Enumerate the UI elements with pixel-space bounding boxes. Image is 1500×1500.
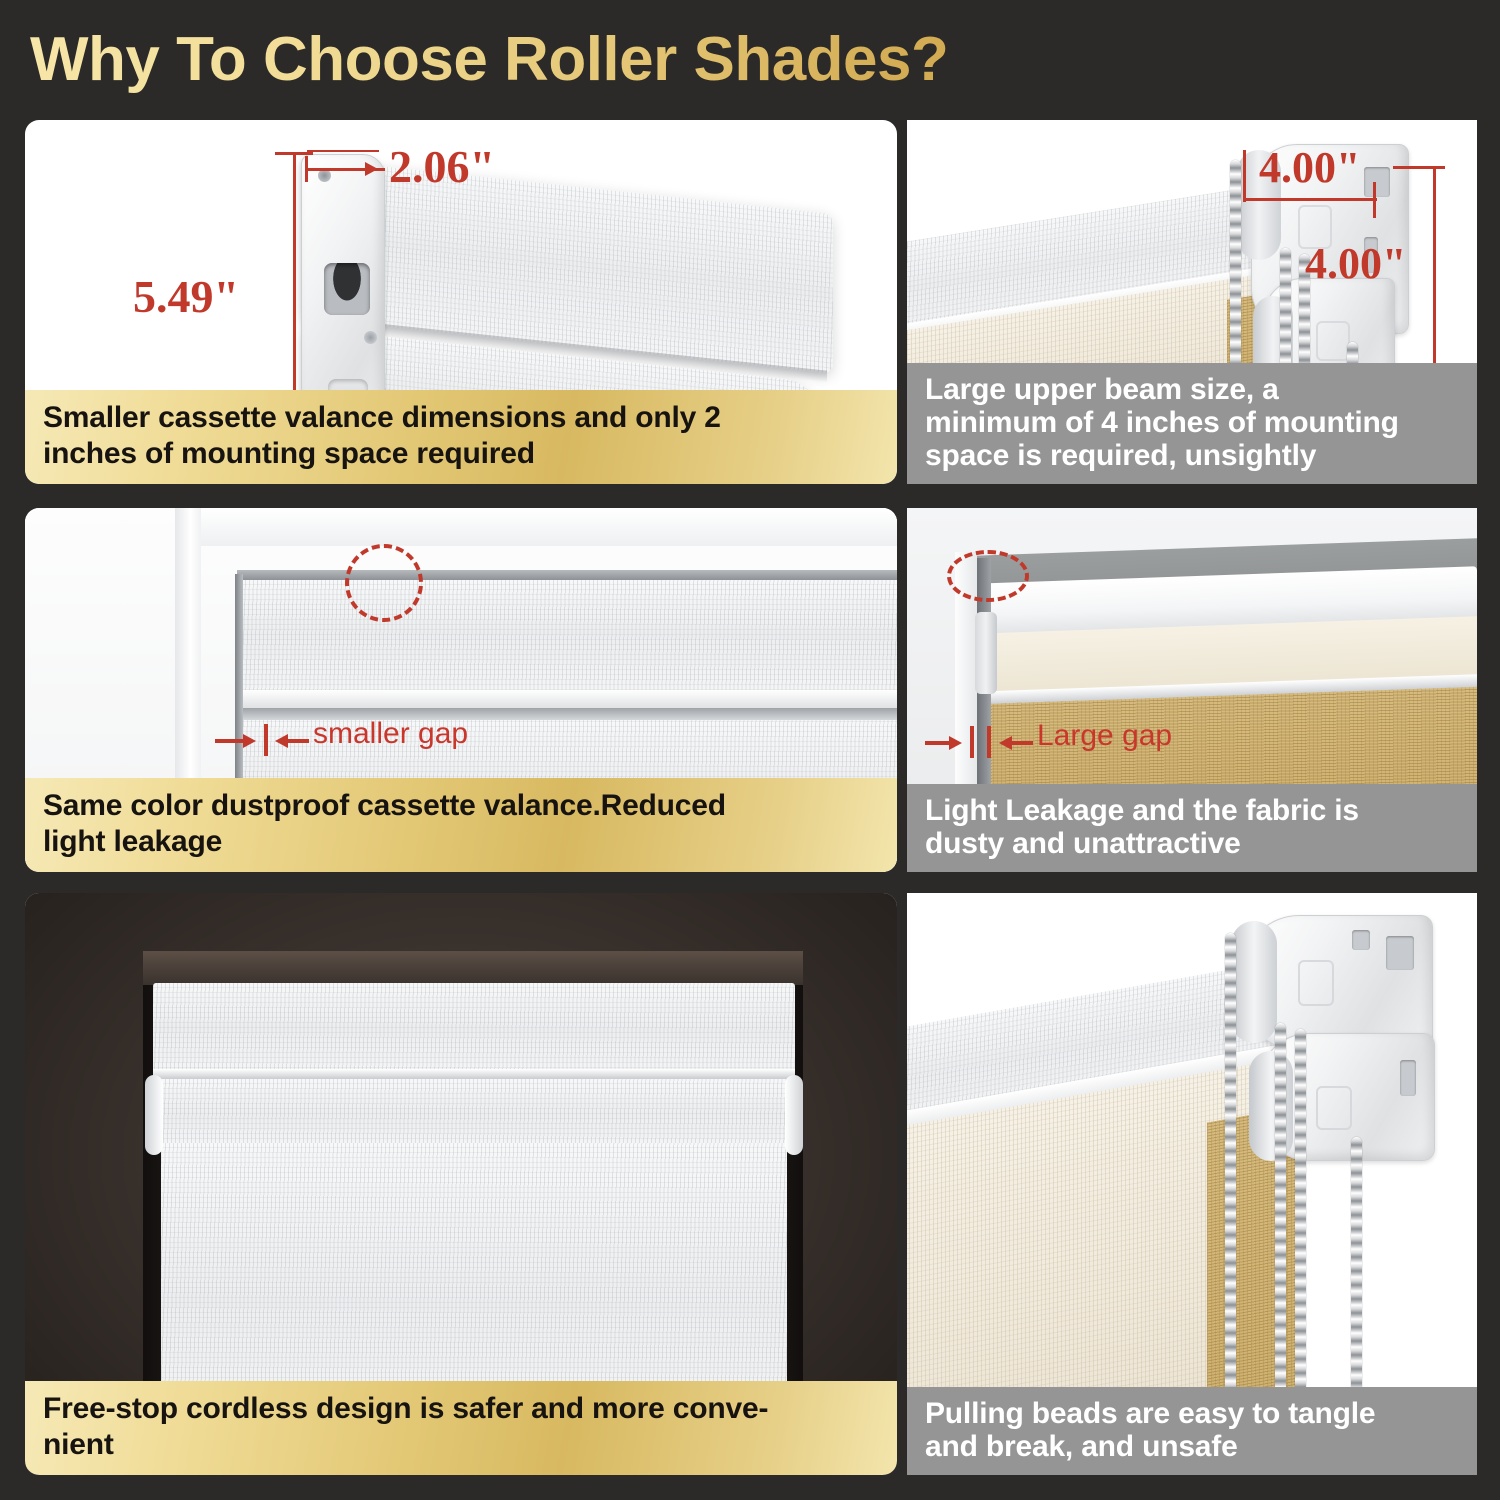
- window-header: [143, 951, 803, 985]
- panel-4-caption: Light Leakage and the fabric is dusty an…: [907, 784, 1477, 872]
- roller-tube: [157, 1079, 791, 1149]
- caption-line: light leakage: [43, 824, 879, 860]
- page-title: Why To Choose Roller Shades?: [30, 14, 1230, 106]
- panel-large-upper-beam: 4.00" 4.00" Large upper beam size, a min…: [907, 120, 1477, 484]
- caption-line: and break, and unsafe: [925, 1430, 1459, 1463]
- panel-large-gap: Large gap Light Leakage and the fabric i…: [907, 508, 1477, 872]
- width-dimension-label: 4.00": [1259, 142, 1360, 193]
- width-dimension-extension: [307, 150, 379, 152]
- cassette-valance-face: [237, 580, 897, 690]
- bracket-slot-top: [1386, 936, 1414, 970]
- panel-1-caption: Smaller cassette valance dimensions and …: [25, 390, 897, 484]
- end-cap-left: [145, 1075, 163, 1155]
- bracket-slot-small: [1352, 930, 1370, 950]
- bead-chain-1: [1230, 160, 1241, 390]
- width-dimension-tick-right: [1373, 182, 1376, 218]
- gap-marker-bar: [264, 724, 268, 756]
- panel-cordless-design: Free-stop cordless design is safer and m…: [25, 893, 897, 1475]
- panel-2-caption: Large upper beam size, a minimum of 4 in…: [907, 363, 1477, 484]
- bracket-slot-mid: [1400, 1060, 1416, 1096]
- panel-3-caption: Same color dustproof cassette valance.Re…: [25, 778, 897, 872]
- gap-arrow-stem-left: [215, 739, 245, 743]
- cassette-valance: [153, 983, 795, 1073]
- width-dimension-tick-left: [305, 156, 308, 182]
- caption-line: Free-stop cordless design is safer and m…: [43, 1391, 879, 1427]
- bracket-emboss-icon-2: [1316, 1086, 1352, 1130]
- panel-5-caption: Free-stop cordless design is safer and m…: [25, 1381, 897, 1475]
- height-dimension-tick-top: [1393, 166, 1445, 169]
- caption-line: dusty and unattractive: [925, 827, 1459, 860]
- end-cap-right: [785, 1075, 803, 1155]
- bracket-slot-top: [1364, 167, 1390, 197]
- panel-smaller-cassette: 2.06" 5.49" Smaller cassette valance dim…: [25, 120, 897, 484]
- gap-callout-label: smaller gap: [313, 717, 468, 751]
- width-dimension-line: [1245, 198, 1377, 201]
- height-dimension-label: 5.49": [133, 270, 239, 323]
- caption-line: Large upper beam size, a: [925, 373, 1459, 406]
- width-dimension-tick-left: [1243, 150, 1246, 202]
- height-dimension-tick-top: [275, 152, 313, 155]
- gap-arrow-stem-left: [925, 741, 951, 745]
- width-dimension-arrow: [365, 162, 378, 176]
- detail-highlight-circle: [345, 544, 423, 622]
- height-dimension-line: [1433, 168, 1436, 374]
- bracket-emboss-icon: [1298, 960, 1334, 1006]
- gap-arrow-left: [949, 736, 962, 750]
- clutch-wheel-top: [1231, 921, 1277, 1043]
- caption-line: nient: [43, 1427, 879, 1463]
- gap-marker-bar-1: [970, 726, 974, 758]
- gap-arrow-stem-right: [287, 739, 309, 743]
- width-dimension-label: 2.06": [389, 140, 495, 193]
- screw-head: [364, 331, 377, 344]
- detail-highlight-ellipse: [947, 550, 1029, 602]
- gap-callout-label: Large gap: [1037, 719, 1172, 753]
- caption-line: Pulling beads are easy to tangle: [925, 1397, 1459, 1430]
- caption-line: minimum of 4 inches of mounting: [925, 406, 1459, 439]
- panel-pulling-beads: Pulling beads are easy to tangle and bre…: [907, 893, 1477, 1475]
- caption-line: Light Leakage and the fabric is: [925, 794, 1459, 827]
- valance-lip: [153, 1069, 795, 1079]
- caption-line: space is required, unsightly: [925, 439, 1459, 472]
- gap-arrow-stem-right: [1011, 741, 1033, 745]
- mounting-bracket: [975, 612, 997, 694]
- cassette-head-shadow: [237, 570, 897, 580]
- height-dimension-label: 4.00": [1305, 238, 1406, 289]
- valance-bottom-lip: [237, 690, 897, 708]
- clutch-wheel-bottom: [1249, 1051, 1293, 1161]
- gap-arrow-left: [243, 734, 256, 748]
- caption-line: Same color dustproof cassette valance.Re…: [43, 788, 879, 824]
- caption-line: inches of mounting space required: [43, 436, 879, 472]
- bracket-emboss-icon-2: [1316, 321, 1350, 361]
- window-frame-top: [201, 508, 897, 546]
- caption-line: Smaller cassette valance dimensions and …: [43, 400, 879, 436]
- panel-6-caption: Pulling beads are easy to tangle and bre…: [907, 1387, 1477, 1475]
- gap-marker-bar-2: [987, 726, 991, 758]
- clutch-opening: [324, 263, 370, 315]
- panel-smaller-gap: smaller gap Same color dustproof cassett…: [25, 508, 897, 872]
